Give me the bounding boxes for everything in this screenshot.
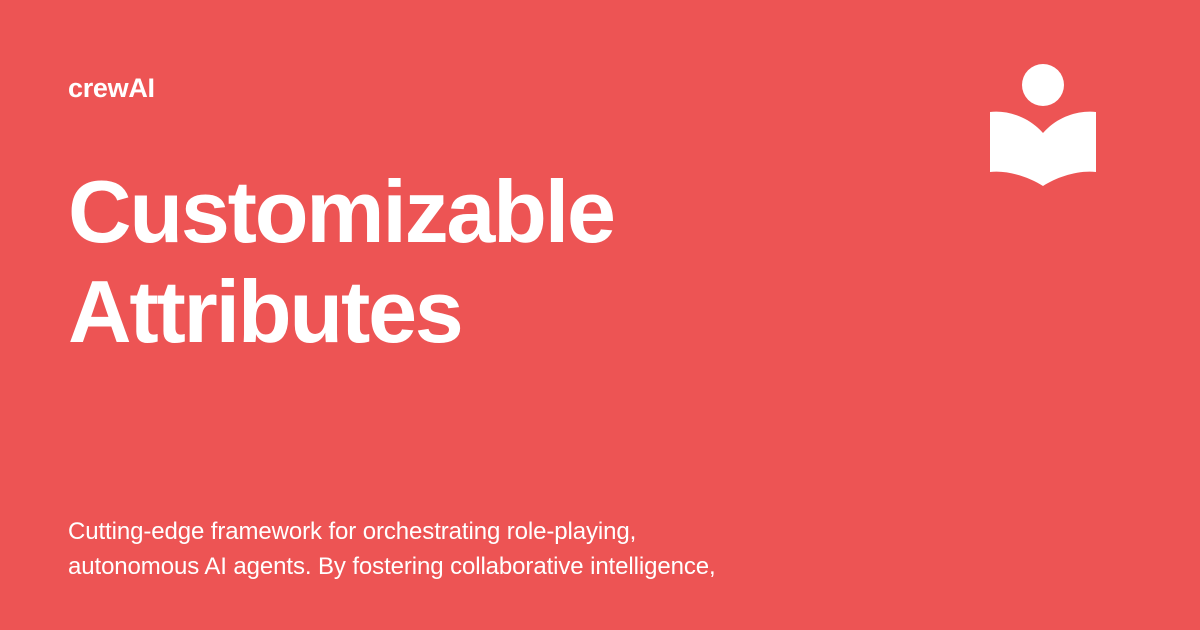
brand-name: crewAI bbox=[68, 71, 155, 105]
social-share-card: crewAI Customizable Attributes Cutting-e… bbox=[0, 0, 1200, 630]
page-title-line-1: Customizable bbox=[68, 162, 948, 262]
page-description-line-1: Cutting-edge framework for orchestrating… bbox=[68, 514, 968, 549]
page-title-line-2: Attributes bbox=[68, 262, 948, 362]
page-description: Cutting-edge framework for orchestrating… bbox=[68, 514, 968, 584]
page-title: Customizable Attributes bbox=[68, 162, 948, 362]
page-description-line-2: autonomous AI agents. By fostering colla… bbox=[68, 549, 968, 584]
book-reader-icon bbox=[986, 60, 1104, 190]
